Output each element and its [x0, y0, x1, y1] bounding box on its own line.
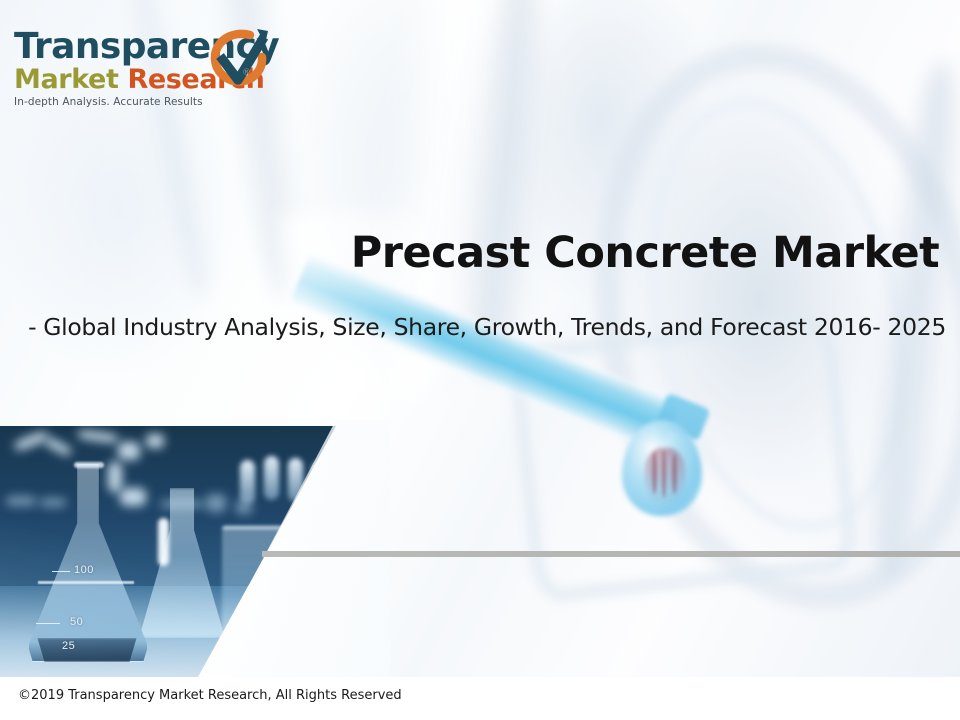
- brand-logo[interactable]: Transparency Market Research In-depth An…: [14, 28, 270, 128]
- report-subtitle-text: - Global Industry Analysis, Size, Share,…: [14, 312, 946, 342]
- horizontal-divider-rule: [262, 551, 960, 557]
- report-title-text: Precast Concrete Market: [21, 228, 939, 278]
- copyright-text: ©2019 Transparency Market Research, All …: [18, 688, 402, 703]
- report-title: Precast Concrete Market: [0, 228, 960, 278]
- report-cover-slide: 100 50 25 Transparency Market Research I…: [0, 0, 960, 720]
- swoosh-checkmark-arrow-icon: [208, 26, 282, 94]
- registered-trademark-symbol: ®: [242, 68, 251, 78]
- logo-word-market: Market: [14, 64, 118, 95]
- report-subtitle: - Global Industry Analysis, Size, Share,…: [0, 312, 960, 342]
- glass-streak-1: [352, 0, 527, 406]
- logo-tagline: In-depth Analysis. Accurate Results: [14, 96, 270, 108]
- footer-bar: ©2019 Transparency Market Research, All …: [0, 677, 960, 720]
- glass-tube-decoration: [507, 314, 860, 605]
